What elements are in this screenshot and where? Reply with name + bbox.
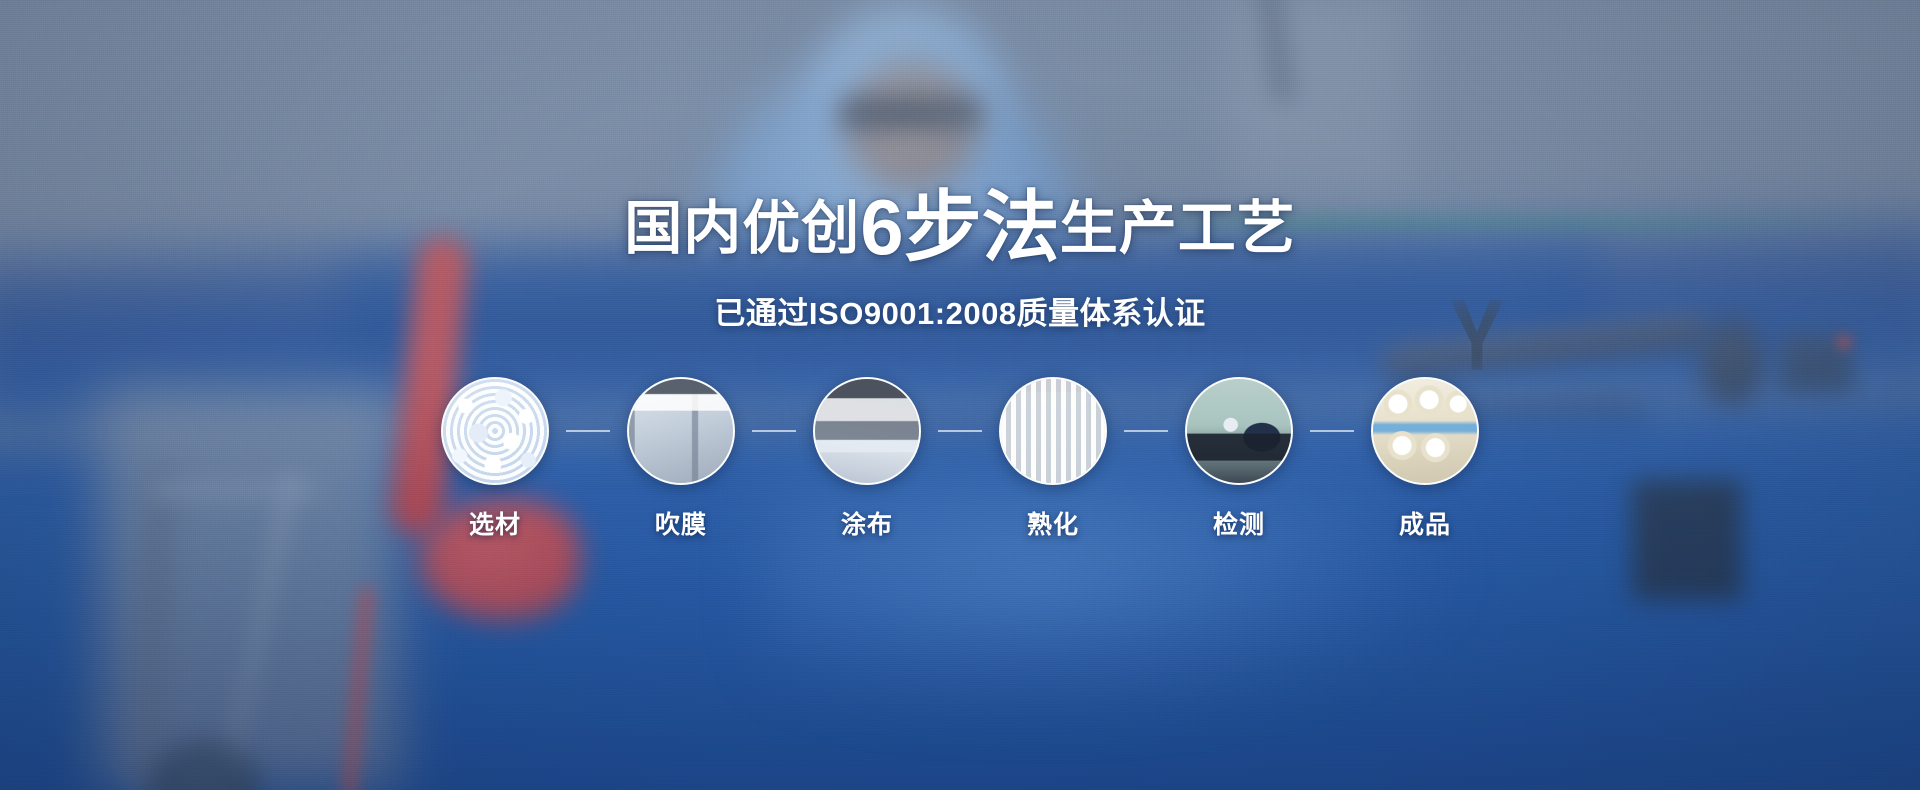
step-thumbnail-curing[interactable] [999,377,1107,485]
process-step-4[interactable]: 熟化 [987,377,1119,541]
connector-line-icon [752,430,796,432]
process-step-1[interactable]: 选材 [429,377,561,541]
curing-room-icon [1001,379,1105,483]
headline-prefix: 国内优创 [624,196,860,261]
plastic-resin-pellets-icon [443,379,547,483]
step-thumbnail-blowing[interactable] [627,377,735,485]
coating-machine-icon [815,379,919,483]
step-label-1: 选材 [469,505,521,541]
step-thumbnail-coating[interactable] [813,377,921,485]
step-connector-2 [747,377,801,485]
step-label-3: 涂布 [841,505,893,541]
process-step-6[interactable]: 成品 [1359,377,1491,541]
step-label-5: 检测 [1213,505,1265,541]
step-thumbnail-selection[interactable] [441,377,549,485]
headline-suffix: 生产工艺 [1060,196,1296,261]
connector-line-icon [566,430,610,432]
step-connector-3 [933,377,987,485]
process-step-5[interactable]: 检测 [1173,377,1305,541]
banner-content: 国内优创6步法生产工艺 已通过ISO9001:2008质量体系认证 选材 吹膜 [0,0,1920,790]
step-connector-1 [561,377,615,485]
process-step-2[interactable]: 吹膜 [615,377,747,541]
step-connector-4 [1119,377,1173,485]
step-label-2: 吹膜 [655,505,707,541]
finished-film-rolls-icon [1373,379,1477,483]
step-connector-5 [1305,377,1359,485]
connector-line-icon [938,430,982,432]
process-step-3[interactable]: 涂布 [801,377,933,541]
quality-testing-lab-icon [1187,379,1291,483]
film-blowing-machine-icon [629,379,733,483]
step-thumbnail-testing[interactable] [1185,377,1293,485]
banner-subheadline: 已通过ISO9001:2008质量体系认证 [714,288,1205,333]
process-steps: 选材 吹膜 涂布 熟化 [429,377,1491,541]
production-process-banner: 国内优创6步法生产工艺 已通过ISO9001:2008质量体系认证 选材 吹膜 [0,0,1920,790]
connector-line-icon [1124,430,1168,432]
connector-line-icon [1310,430,1354,432]
headline-emphasis: 6步法 [860,183,1059,271]
step-thumbnail-finished[interactable] [1371,377,1479,485]
step-label-6: 成品 [1399,505,1451,541]
banner-headline: 国内优创6步法生产工艺 [624,188,1295,266]
step-label-4: 熟化 [1027,505,1079,541]
